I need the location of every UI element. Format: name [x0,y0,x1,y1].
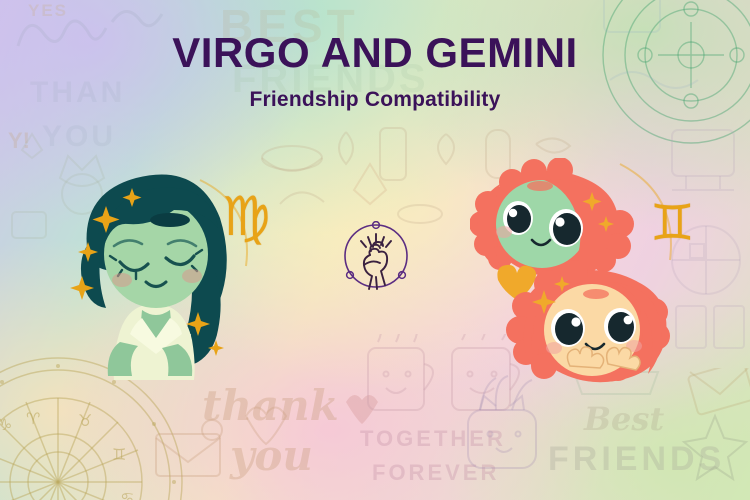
page-title: VIRGO AND GEMINI [0,32,750,74]
gemini-sign-block: ♊ Gemini [470,158,720,388]
gemini-twins-illustration [470,158,700,388]
virgo-zodiac-glyph: ♍ [222,190,270,244]
page-subtitle: Friendship Compatibility [0,88,750,112]
svg-text:Y!: Y! [8,128,30,153]
svg-text:thank: thank [202,381,339,430]
gemini-zodiac-glyph: ♊ [650,198,695,248]
svg-text:♊: ♊ [112,445,126,464]
virgo-sign-block: ♍ Virgo [50,160,300,380]
headline-block: VIRGO AND GEMINI Friendship Compatibilit… [0,32,750,112]
friendship-handshake-icon: Friendship [341,221,411,291]
svg-text:YES: YES [28,1,68,20]
compatibility-graphic: THAN YOU YES BEST FRIENDS [0,0,750,500]
svg-text:♑: ♑ [0,415,12,434]
svg-text:♉: ♉ [78,411,92,430]
svg-text:♋: ♋ [120,489,134,500]
svg-text:you: you [229,431,313,480]
svg-text:Best: Best [583,400,664,438]
svg-text:♈: ♈ [26,409,40,428]
